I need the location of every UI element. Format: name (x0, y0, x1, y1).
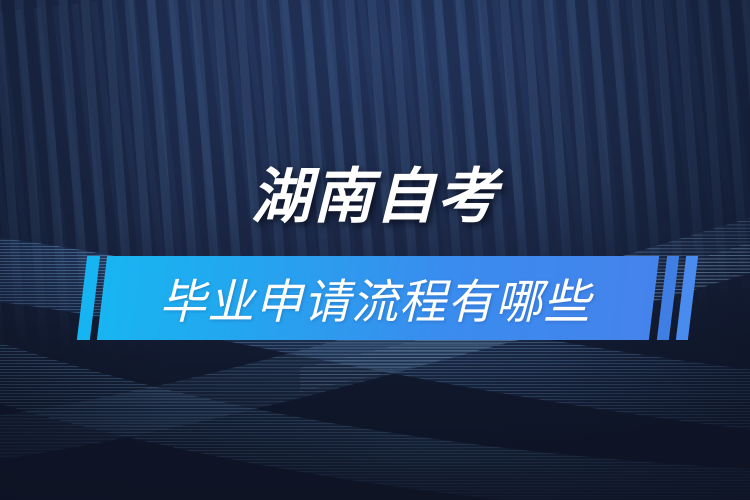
vignette-overlay (0, 0, 750, 500)
banner-headline: 湖南自考 (0, 163, 750, 231)
banner-subtitle: 毕业申请流程有哪些 (0, 265, 750, 339)
promotional-banner: 湖南自考 毕业申请流程有哪些 (0, 0, 750, 500)
